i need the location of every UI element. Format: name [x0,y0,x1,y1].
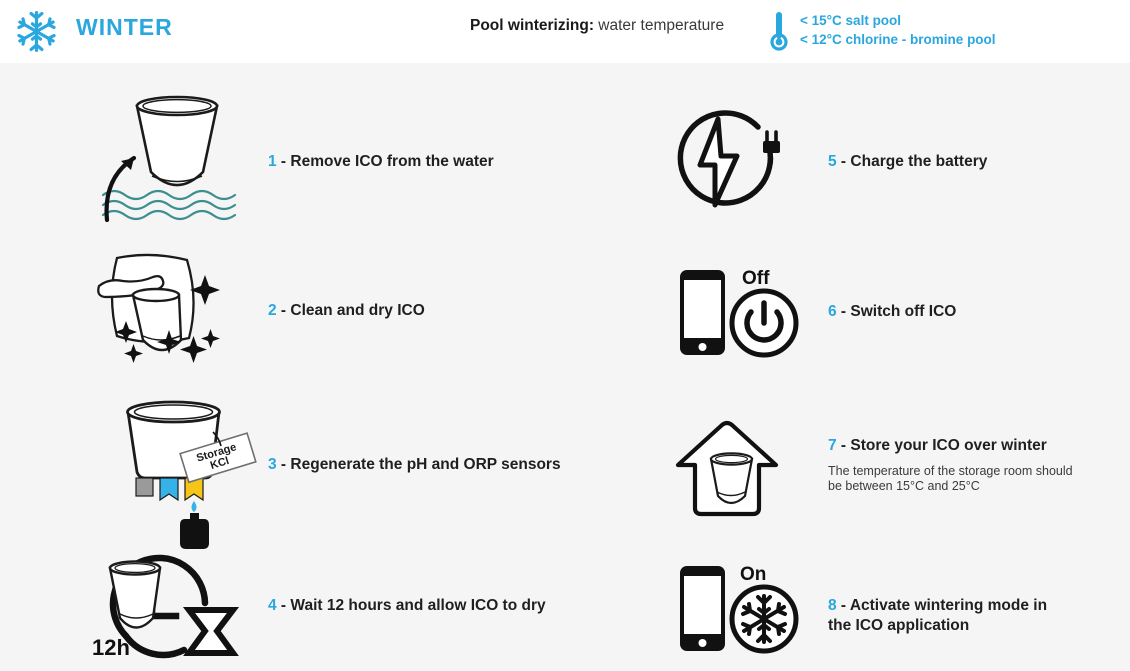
step-7-subtitle: The temperature of the storage room shou… [828,464,1078,494]
step-3-number: 3 [268,456,277,473]
step-1-title: 1 - Remove ICO from the water [268,152,494,172]
step-2-text: 2 - Clean and dry ICO [268,301,425,321]
ico-sensors-kcl-icon: Storage KCl [95,398,280,533]
step-3-art-block: Storage KCl [95,398,285,533]
temperature-thresholds: < 15°C salt pool < 12°C chlorine - bromi… [800,11,996,49]
step-4-text: 4 - Wait 12 hours and allow ICO to dry [268,596,546,616]
step-3-text: 3 - Regenerate the pH and ORP sensors [268,455,561,475]
step-6-number: 6 [828,303,837,320]
header-subtitle: Pool winterizing: water temperature [470,17,724,35]
step-2-label: Clean and dry ICO [290,302,424,319]
step-6-art-block: Off [670,262,810,362]
temp-chlorine-pool: < 12°C chlorine - bromine pool [800,30,996,49]
step-3-title: 3 - Regenerate the pH and ORP sensors [268,455,561,475]
step-4-title: 4 - Wait 12 hours and allow ICO to dry [268,596,546,616]
step-6-dash: - [837,303,851,320]
step-8-art-block: On [670,558,810,658]
twelve-hours-label: 12h [92,635,130,660]
step-5-title: 5 - Charge the battery [828,152,987,172]
header-bar: WINTER Pool winterizing: water temperatu… [0,0,1130,63]
step-1-art-block [95,92,265,227]
off-label: Off [742,268,770,289]
battery-charge-plug-icon [670,105,795,220]
on-label: On [740,564,766,585]
step-4-art-block: 12h [90,552,270,667]
step-5-number: 5 [828,153,837,170]
step-5-art-block [670,105,800,220]
step-8-text: 8 - Activate wintering mode in the ICO a… [828,596,1058,636]
step-6-label: Switch off ICO [850,303,956,320]
step-3-label: Regenerate the pH and ORP sensors [290,456,560,473]
step-4-label: Wait 12 hours and allow ICO to dry [290,597,545,614]
step-7-label: Store your ICO over winter [850,437,1046,454]
step-5-text: 5 - Charge the battery [828,152,987,172]
ico-in-water-icon [95,92,260,227]
step-7-title: 7 - Store your ICO over winter [828,436,1078,456]
phone-power-off-icon: Off [670,262,805,362]
step-8-number: 8 [828,597,837,614]
thermometer-icon [766,12,792,52]
step-2-title: 2 - Clean and dry ICO [268,301,425,321]
phone-snowflake-on-icon: On [670,558,805,658]
step-2-number: 2 [268,302,277,319]
step-1-dash: - [277,153,291,170]
snowflake-icon [14,9,59,54]
step-2-dash: - [277,302,291,319]
step-6-text: 6 - Switch off ICO [828,302,956,322]
temp-salt-pool: < 15°C salt pool [800,11,996,30]
step-4-number: 4 [268,597,277,614]
house-storage-icon [670,418,785,523]
step-8-dash: - [837,597,850,614]
step-8-title: 8 - Activate wintering mode in the ICO a… [828,596,1058,636]
ico-clock-hourglass-icon: 12h [90,552,265,667]
step-3-dash: - [277,456,291,473]
season-title: WINTER [76,14,173,41]
step-2-art-block [95,248,265,363]
step-7-art-block [670,418,790,523]
ico-cleaning-cloth-icon [95,248,260,363]
step-1-number: 1 [268,153,277,170]
header-subtitle-light: water temperature [594,17,724,34]
step-5-label: Charge the battery [850,153,987,170]
step-7-text: 7 - Store your ICO over winter The tempe… [828,436,1078,494]
step-5-dash: - [837,153,851,170]
step-8-label: Activate wintering mode in the ICO appli… [828,597,1047,634]
step-1-label: Remove ICO from the water [290,153,493,170]
step-4-dash: - [277,597,291,614]
header-subtitle-bold: Pool winterizing: [470,17,594,34]
infographic-page: WINTER Pool winterizing: water temperatu… [0,0,1130,671]
step-6-title: 6 - Switch off ICO [828,302,956,322]
step-7-number: 7 [828,437,837,454]
step-7-dash: - [837,437,851,454]
step-1-text: 1 - Remove ICO from the water [268,152,494,172]
